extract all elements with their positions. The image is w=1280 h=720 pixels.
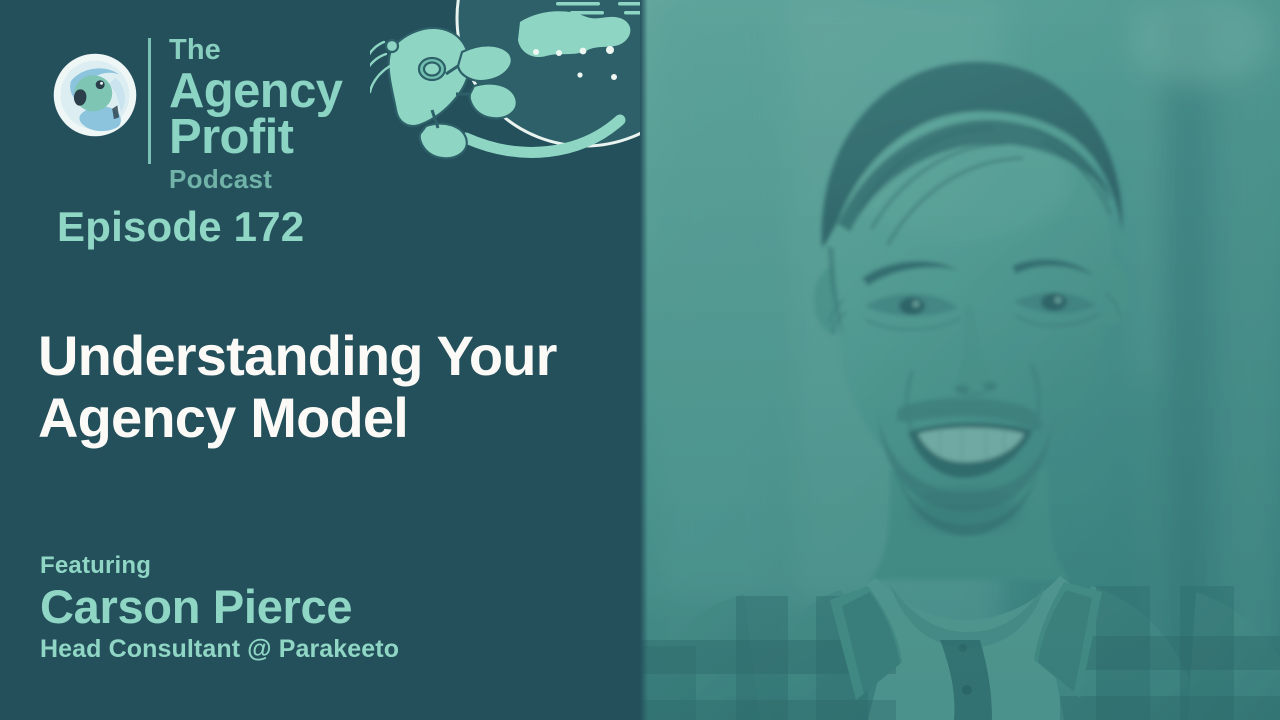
featuring-label: Featuring (40, 552, 620, 580)
parakeeto-bird-logo-icon (52, 52, 138, 138)
logo-word-agency: Agency (169, 67, 342, 116)
logo-wordmark: The Agency Profit Podcast (169, 36, 342, 192)
logo-word-the: The (169, 36, 342, 65)
planet-icon (430, 0, 640, 200)
logo-divider (148, 38, 151, 164)
podcast-episode-cover: The Agency Profit Podcast Episode 172 Un… (0, 0, 1280, 720)
rocket-icon (370, 28, 517, 158)
podcast-logo-lockup: The Agency Profit Podcast (52, 36, 342, 192)
logo-word-profit: Profit (169, 113, 342, 162)
guest-photo (640, 0, 1280, 720)
guest-role: Head Consultant @ Parakeeto (40, 635, 620, 664)
featuring-block: Featuring Carson Pierce Head Consultant … (40, 552, 620, 664)
episode-number: Episode 172 (57, 203, 304, 251)
guest-headshot-illustration (640, 0, 1280, 720)
episode-title: Understanding Your Agency Model (38, 325, 618, 448)
guest-name: Carson Pierce (40, 582, 620, 633)
logo-word-podcast: Podcast (169, 166, 342, 192)
space-artwork (370, 0, 640, 200)
stars-icon (533, 46, 617, 80)
left-info-panel: The Agency Profit Podcast Episode 172 Un… (0, 0, 640, 720)
rocket-trail (466, 120, 620, 152)
